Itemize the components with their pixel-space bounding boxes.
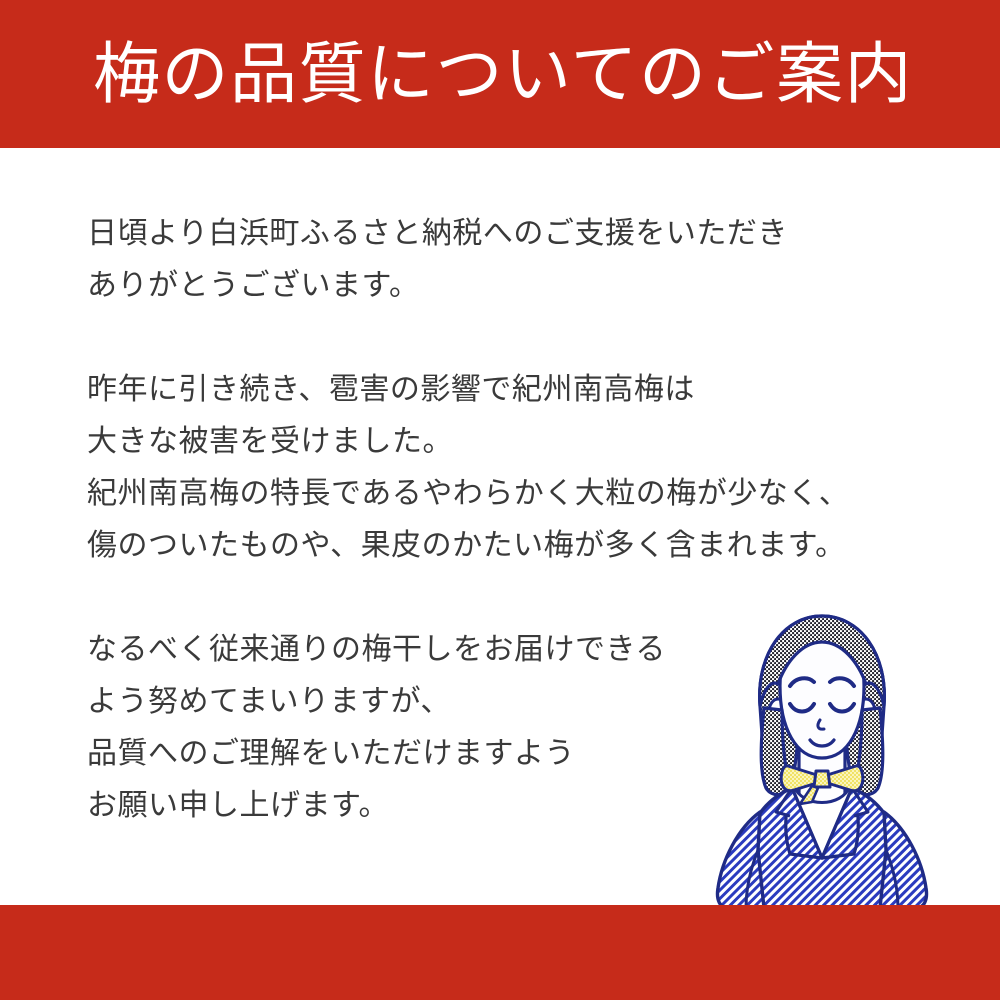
arm-right <box>880 812 927 908</box>
illustration-figure <box>717 616 926 908</box>
footer-banner <box>0 905 1000 1000</box>
notice-page: 梅の品質についてのご案内 日頃より白浜町ふるさと納税へのご支援をいただき ありが… <box>0 0 1000 1000</box>
page-title: 梅の品質についてのご案内 <box>93 36 913 114</box>
header-banner: 梅の品質についてのご案内 <box>0 0 1000 148</box>
body-line: 昨年に引き続き、雹害の影響で紀州南高梅は <box>87 364 917 416</box>
paragraph-greeting: 日頃より白浜町ふるさと納税へのご支援をいただき ありがとうございます。 <box>87 208 917 312</box>
body-line: ありがとうございます。 <box>87 260 917 312</box>
arm-left <box>717 812 764 908</box>
body-line: 紀州南高梅の特長であるやわらかく大粒の梅が少なく、 <box>87 468 917 520</box>
bowing-woman-illustration <box>672 588 972 908</box>
body-line: 日頃より白浜町ふるさと納税へのご支援をいただき <box>87 208 917 260</box>
body-line: 傷のついたものや、果皮のかたい梅が多く含まれます。 <box>87 520 917 572</box>
body-line: 大きな被害を受けました。 <box>87 416 917 468</box>
paragraph-damage-notice: 昨年に引き続き、雹害の影響で紀州南高梅は 大きな被害を受けました。 紀州南高梅の… <box>87 364 917 572</box>
